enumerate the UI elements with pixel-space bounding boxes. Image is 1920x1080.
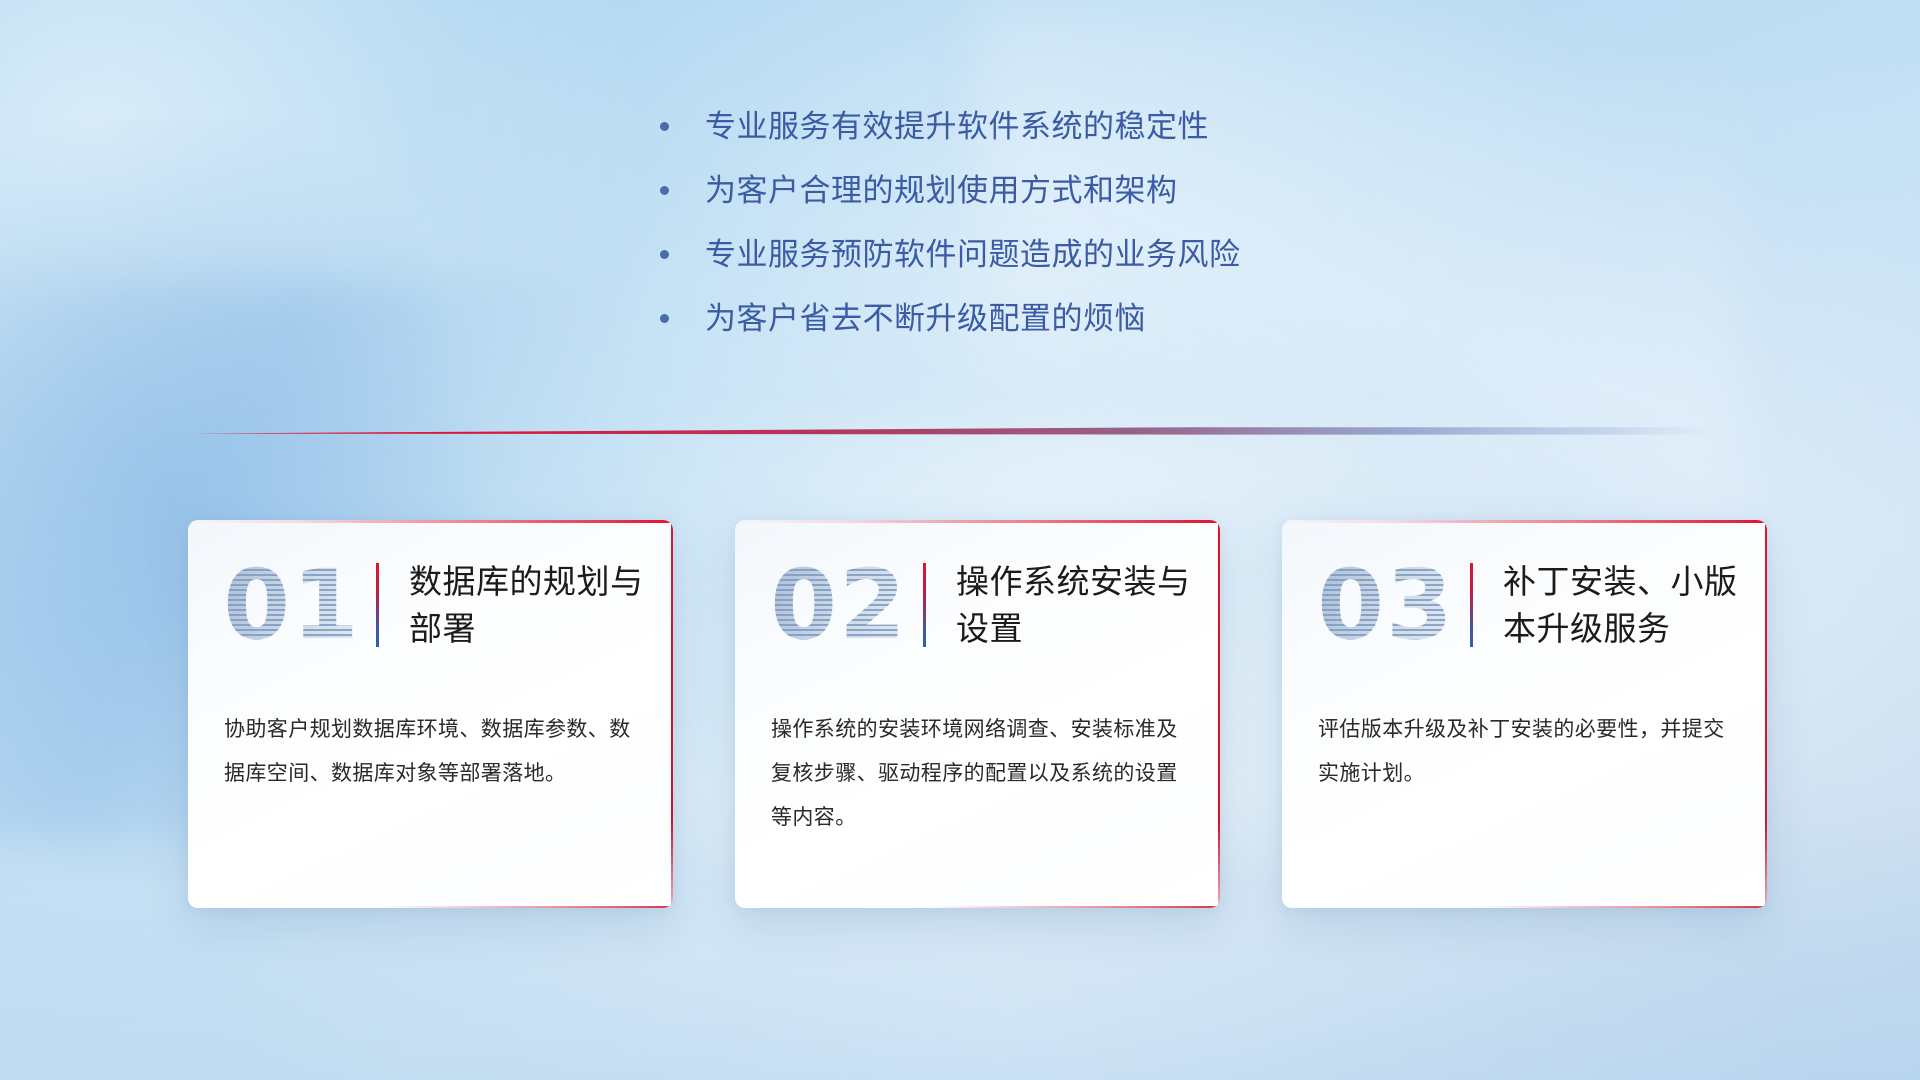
card-body-text: 评估版本升级及补丁安装的必要性，并提交实施计划。 (1318, 708, 1731, 796)
card-number: 03 (1316, 549, 1456, 661)
bullet-text: 专业服务有效提升软件系统的稳定性 (705, 106, 1209, 148)
bullet-dot-icon (660, 186, 669, 195)
card-number: 02 (769, 549, 909, 661)
card-number: 01 (222, 549, 362, 661)
bullet-dot-icon (660, 122, 669, 131)
card-bottom-accent (1476, 906, 1767, 908)
card-title: 数据库的规划与部署 (409, 558, 659, 652)
list-item: 为客户省去不断升级配置的烦恼 (660, 298, 1480, 340)
benefits-bullet-list: 专业服务有效提升软件系统的稳定性 为客户合理的规划使用方式和架构 专业服务预防软… (660, 106, 1480, 362)
card-bottom-accent (382, 906, 673, 908)
card-number-badge: 02 (769, 549, 909, 661)
bullet-text: 专业服务预防软件问题造成的业务风险 (705, 234, 1241, 276)
bullet-dot-icon (660, 314, 669, 323)
list-item: 专业服务有效提升软件系统的稳定性 (660, 106, 1480, 148)
service-card[interactable]: 02 操作系统安装与设置 操作系统的安装环境网络调查、安装标准及复核步骤、驱动程… (735, 520, 1220, 908)
service-card[interactable]: 03 补丁安装、小版本升级服务 评估版本升级及补丁安装的必要性，并提交实施计划。 (1282, 520, 1767, 908)
card-body-text: 协助客户规划数据库环境、数据库参数、数据库空间、数据库对象等部署落地。 (224, 708, 637, 796)
card-title-divider (923, 563, 926, 647)
bullet-text: 为客户省去不断升级配置的烦恼 (705, 298, 1146, 340)
card-header: 03 补丁安装、小版本升级服务 (1282, 520, 1767, 690)
card-number-badge: 01 (222, 549, 362, 661)
card-title-divider (376, 563, 379, 647)
card-header: 01 数据库的规划与部署 (188, 520, 673, 690)
card-number-badge: 03 (1316, 549, 1456, 661)
section-divider (190, 422, 1720, 444)
card-title-divider (1470, 563, 1473, 647)
bullet-dot-icon (660, 250, 669, 259)
card-bottom-accent (929, 906, 1220, 908)
card-title: 操作系统安装与设置 (956, 558, 1206, 652)
bullet-text: 为客户合理的规划使用方式和架构 (705, 170, 1178, 212)
list-item: 专业服务预防软件问题造成的业务风险 (660, 234, 1480, 276)
list-item: 为客户合理的规划使用方式和架构 (660, 170, 1480, 212)
service-card[interactable]: 01 数据库的规划与部署 协助客户规划数据库环境、数据库参数、数据库空间、数据库… (188, 520, 673, 908)
service-cards: 01 数据库的规划与部署 协助客户规划数据库环境、数据库参数、数据库空间、数据库… (0, 520, 1920, 912)
card-header: 02 操作系统安装与设置 (735, 520, 1220, 690)
card-title: 补丁安装、小版本升级服务 (1503, 558, 1753, 652)
card-body-text: 操作系统的安装环境网络调查、安装标准及复核步骤、驱动程序的配置以及系统的设置等内… (771, 708, 1184, 840)
